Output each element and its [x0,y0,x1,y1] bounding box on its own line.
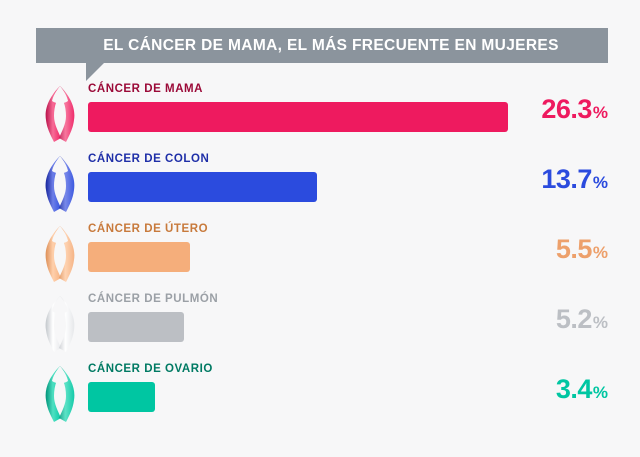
category-label: CÁNCER DE ÚTERO [88,223,208,235]
chart-row-ovary: CÁNCER DE OVARIO 3.4% [0,358,640,428]
value-label-lung: 5.2% [556,306,608,333]
awareness-ribbon-icon [38,152,82,214]
value-number: 13.7 [541,164,592,194]
awareness-ribbon-icon [38,362,82,424]
value-label-breast: 26.3% [541,96,608,123]
percent-symbol: % [593,173,608,192]
infographic-canvas: EL CÁNCER DE MAMA, EL MÁS FRECUENTE EN M… [0,0,640,457]
bar-uterus [88,242,190,272]
chart-row-lung: CÁNCER DE PULMÓN 5.2% [0,288,640,358]
value-label-colon: 13.7% [541,166,608,193]
bar-ovary [88,382,155,412]
category-label: CÁNCER DE OVARIO [88,363,213,375]
value-number: 5.2 [556,304,592,334]
value-label-ovary: 3.4% [556,376,608,403]
category-label: CÁNCER DE PULMÓN [88,293,218,305]
awareness-ribbon-icon [38,292,82,354]
bar-colon [88,172,317,202]
value-number: 3.4 [556,374,592,404]
category-label: CÁNCER DE MAMA [88,83,203,95]
title-banner: EL CÁNCER DE MAMA, EL MÁS FRECUENTE EN M… [36,28,608,63]
percent-symbol: % [593,313,608,332]
percent-symbol: % [593,383,608,402]
chart-row-uterus: CÁNCER DE ÚTERO 5.5% [0,218,640,288]
bar-lung [88,312,184,342]
percent-symbol: % [593,243,608,262]
bar-chart: CÁNCER DE MAMA 26.3% [0,78,640,428]
value-number: 26.3 [541,94,592,124]
value-number: 5.5 [556,234,592,264]
category-label: CÁNCER DE COLON [88,153,209,165]
page-title: EL CÁNCER DE MAMA, EL MÁS FRECUENTE EN M… [85,37,559,55]
awareness-ribbon-icon [38,222,82,284]
chart-row-breast: CÁNCER DE MAMA 26.3% [0,78,640,148]
value-label-uterus: 5.5% [556,236,608,263]
percent-symbol: % [593,103,608,122]
awareness-ribbon-icon [38,82,82,144]
bar-breast [88,102,508,132]
chart-row-colon: CÁNCER DE COLON 13.7% [0,148,640,218]
